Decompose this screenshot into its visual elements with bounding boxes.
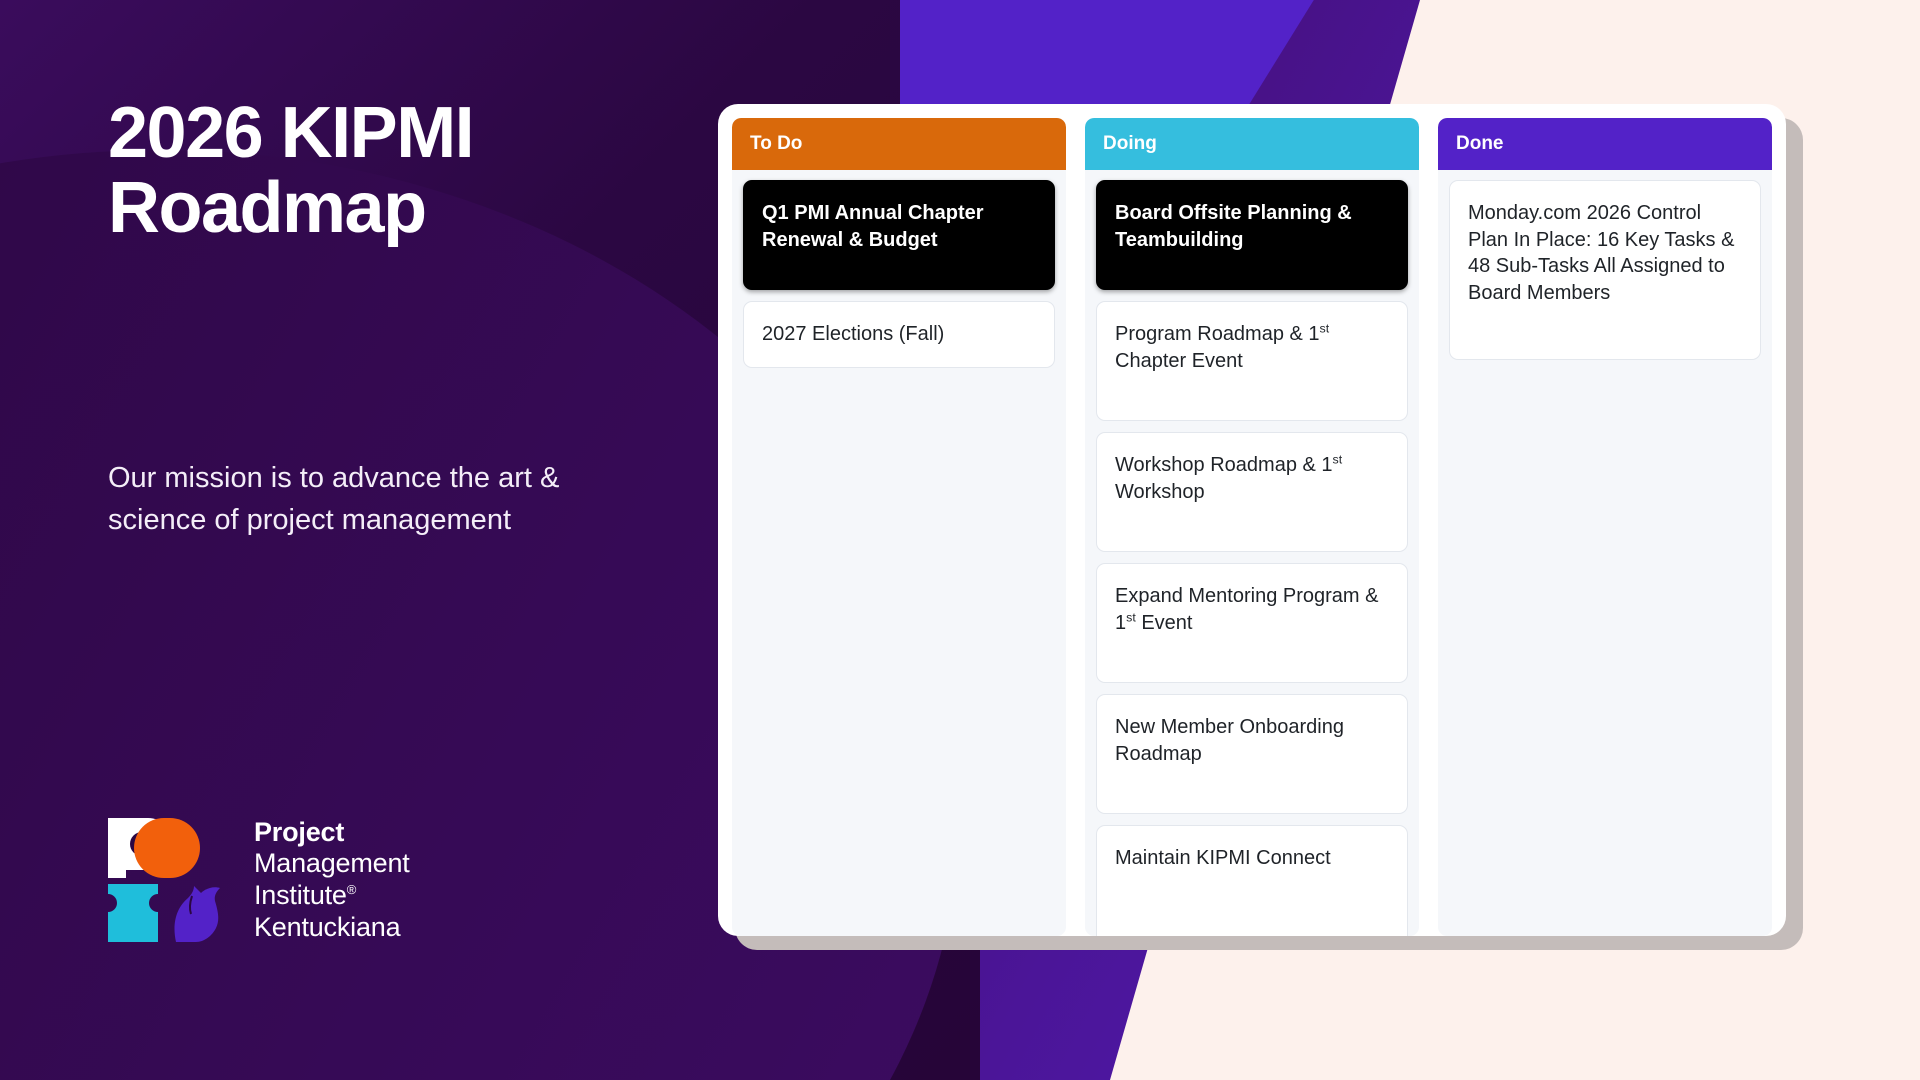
column-card-list-done: Monday.com 2026 Control Plan In Place: 1… bbox=[1438, 170, 1772, 936]
kanban-card[interactable]: Q1 PMI Annual Chapter Renewal & Budget bbox=[743, 180, 1055, 290]
logo-line-management: Management bbox=[254, 848, 410, 880]
pmi-kentuckiana-logo: Project Management Institute® Kentuckian… bbox=[106, 816, 410, 944]
mission-statement: Our mission is to advance the art & scie… bbox=[108, 458, 608, 542]
logo-line-project: Project bbox=[254, 817, 410, 849]
kanban-card[interactable]: Monday.com 2026 Control Plan In Place: 1… bbox=[1449, 180, 1761, 360]
logo-line-kentuckiana: Kentuckiana bbox=[254, 912, 410, 944]
page-title-line-1: 2026 KIPMI bbox=[108, 96, 668, 171]
page-title-line-2: Roadmap bbox=[108, 171, 668, 246]
column-title: Done bbox=[1456, 133, 1504, 155]
column-header-todo: To Do bbox=[732, 118, 1066, 170]
hero-heading-block: 2026 KIPMI Roadmap bbox=[108, 96, 668, 246]
kanban-card[interactable]: Maintain KIPMI Connect bbox=[1096, 825, 1408, 936]
column-header-done: Done bbox=[1438, 118, 1772, 170]
logo-wordmark: Project Management Institute® Kentuckian… bbox=[254, 817, 410, 943]
kanban-card[interactable]: Board Offsite Planning & Teambuilding bbox=[1096, 180, 1408, 290]
column-card-list-todo: Q1 PMI Annual Chapter Renewal & Budget20… bbox=[732, 170, 1066, 936]
slide-canvas: 2026 KIPMI Roadmap Our mission is to adv… bbox=[0, 0, 1920, 1080]
kanban-column-todo: To DoQ1 PMI Annual Chapter Renewal & Bud… bbox=[732, 118, 1066, 936]
page-title: 2026 KIPMI Roadmap bbox=[108, 96, 668, 246]
kanban-card[interactable]: 2027 Elections (Fall) bbox=[743, 301, 1055, 368]
logo-line-institute: Institute® bbox=[254, 880, 410, 912]
column-title: To Do bbox=[750, 133, 802, 155]
pmi-logo-mark-icon bbox=[106, 816, 228, 944]
kanban-card[interactable]: Expand Mentoring Program & 1st Event bbox=[1096, 563, 1408, 683]
kanban-card[interactable]: Program Roadmap & 1st Chapter Event bbox=[1096, 301, 1408, 421]
column-title: Doing bbox=[1103, 133, 1157, 155]
column-header-doing: Doing bbox=[1085, 118, 1419, 170]
kanban-board: To DoQ1 PMI Annual Chapter Renewal & Bud… bbox=[718, 104, 1786, 936]
kanban-card[interactable]: New Member Onboarding Roadmap bbox=[1096, 694, 1408, 814]
kanban-card[interactable]: Workshop Roadmap & 1st Workshop bbox=[1096, 432, 1408, 552]
registered-trademark-icon: ® bbox=[347, 882, 356, 897]
kanban-column-doing: DoingBoard Offsite Planning & Teambuildi… bbox=[1085, 118, 1419, 936]
column-card-list-doing: Board Offsite Planning & TeambuildingPro… bbox=[1085, 170, 1419, 936]
kanban-column-done: DoneMonday.com 2026 Control Plan In Plac… bbox=[1438, 118, 1772, 936]
